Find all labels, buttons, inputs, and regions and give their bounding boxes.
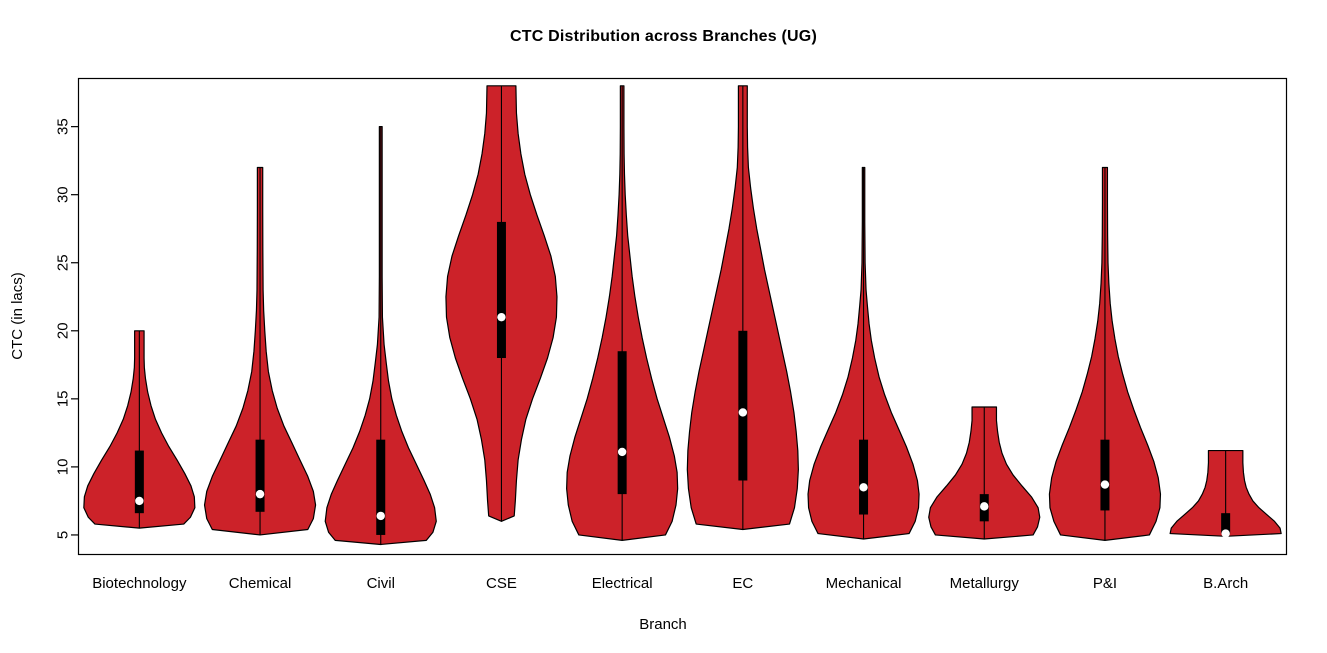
median-marker — [980, 502, 988, 510]
violin-b-arch — [1170, 451, 1281, 538]
y-axis: 5101520253035 — [55, 118, 80, 539]
median-marker — [135, 497, 143, 505]
median-marker — [1221, 529, 1229, 537]
median-marker — [618, 448, 626, 456]
iqr-box — [1100, 440, 1109, 511]
violin-ec — [687, 86, 798, 530]
violin-civil — [325, 127, 436, 545]
x-tick-label: Biotechnology — [92, 575, 187, 592]
x-tick-label: P&I — [1093, 575, 1117, 592]
y-tick-label: 25 — [55, 254, 72, 271]
x-axis: BiotechnologyChemicalCivilCSEElectricalE… — [92, 575, 1248, 592]
violins-group — [84, 86, 1281, 545]
x-tick-label: CSE — [486, 575, 517, 592]
iqr-box — [738, 331, 747, 481]
x-axis-title: Branch — [639, 616, 687, 633]
y-tick-label: 15 — [55, 390, 72, 407]
y-tick-label: 20 — [55, 322, 72, 339]
median-marker — [256, 490, 264, 498]
x-tick-label: B.Arch — [1203, 575, 1248, 592]
median-marker — [377, 512, 385, 520]
violin-electrical — [567, 86, 678, 541]
y-tick-label: 10 — [55, 459, 72, 476]
violin-mechanical — [808, 167, 919, 539]
violin-chemical — [205, 167, 316, 534]
x-tick-label: Metallurgy — [950, 575, 1020, 592]
y-tick-label: 35 — [55, 118, 72, 135]
iqr-box — [618, 351, 627, 494]
x-tick-label: Electrical — [592, 575, 653, 592]
y-axis-title: CTC (in lacs) — [9, 272, 26, 360]
y-tick-label: 30 — [55, 186, 72, 203]
violin-biotechnology — [84, 331, 195, 528]
violin-chart-figure: CTC Distribution across Branches (UG) 51… — [0, 0, 1327, 653]
x-tick-label: Chemical — [229, 575, 292, 592]
iqr-box — [376, 440, 385, 535]
y-tick-label: 5 — [55, 531, 72, 539]
x-tick-label: Mechanical — [826, 575, 902, 592]
iqr-box — [859, 440, 868, 515]
median-marker — [859, 483, 867, 491]
violin-metallurgy — [929, 407, 1040, 539]
iqr-box — [256, 440, 265, 512]
median-marker — [739, 408, 747, 416]
x-tick-label: Civil — [367, 575, 395, 592]
x-tick-label: EC — [732, 575, 753, 592]
median-marker — [1101, 480, 1109, 488]
violin-p-i — [1049, 167, 1160, 540]
median-marker — [497, 313, 505, 321]
plot-canvas: 5101520253035 BiotechnologyChemicalCivil… — [0, 0, 1327, 653]
violin-cse — [446, 86, 557, 522]
iqr-box — [497, 222, 506, 358]
